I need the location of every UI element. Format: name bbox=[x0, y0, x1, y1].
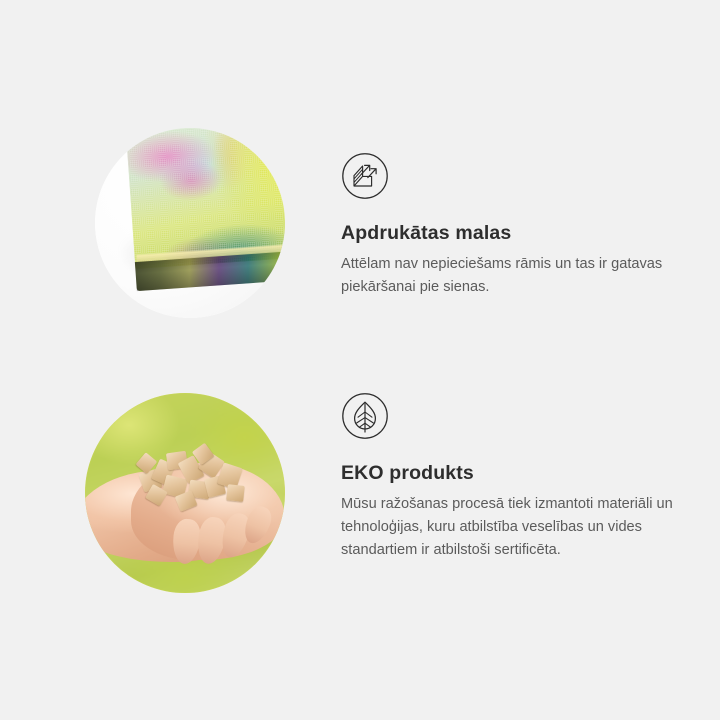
wood-chip bbox=[226, 484, 244, 501]
leaf-icon bbox=[341, 392, 389, 440]
hands-wood-chips-photo bbox=[85, 393, 285, 593]
canvas-print-corner-photo bbox=[95, 128, 285, 318]
canvas-print-block bbox=[126, 128, 285, 292]
feature-description: Attēlam nav nepieciešams rāmis un tas ir… bbox=[341, 253, 679, 298]
feature-block-eko-product: EKO produkts Mūsu ražošanas procesā tiek… bbox=[341, 392, 691, 561]
wood-chips-pile bbox=[137, 445, 249, 517]
feature-description: Mūsu ražošanas procesā tiek izmantoti ma… bbox=[341, 493, 679, 561]
feature-block-printed-edges: Apdrukātas malas Attēlam nav nepieciešam… bbox=[341, 152, 691, 299]
feature-title: EKO produkts bbox=[341, 462, 691, 485]
product-features-page: Apdrukātas malas Attēlam nav nepieciešam… bbox=[0, 0, 720, 720]
printed-edges-icon bbox=[341, 152, 389, 200]
feature-title: Apdrukātas malas bbox=[341, 222, 691, 245]
